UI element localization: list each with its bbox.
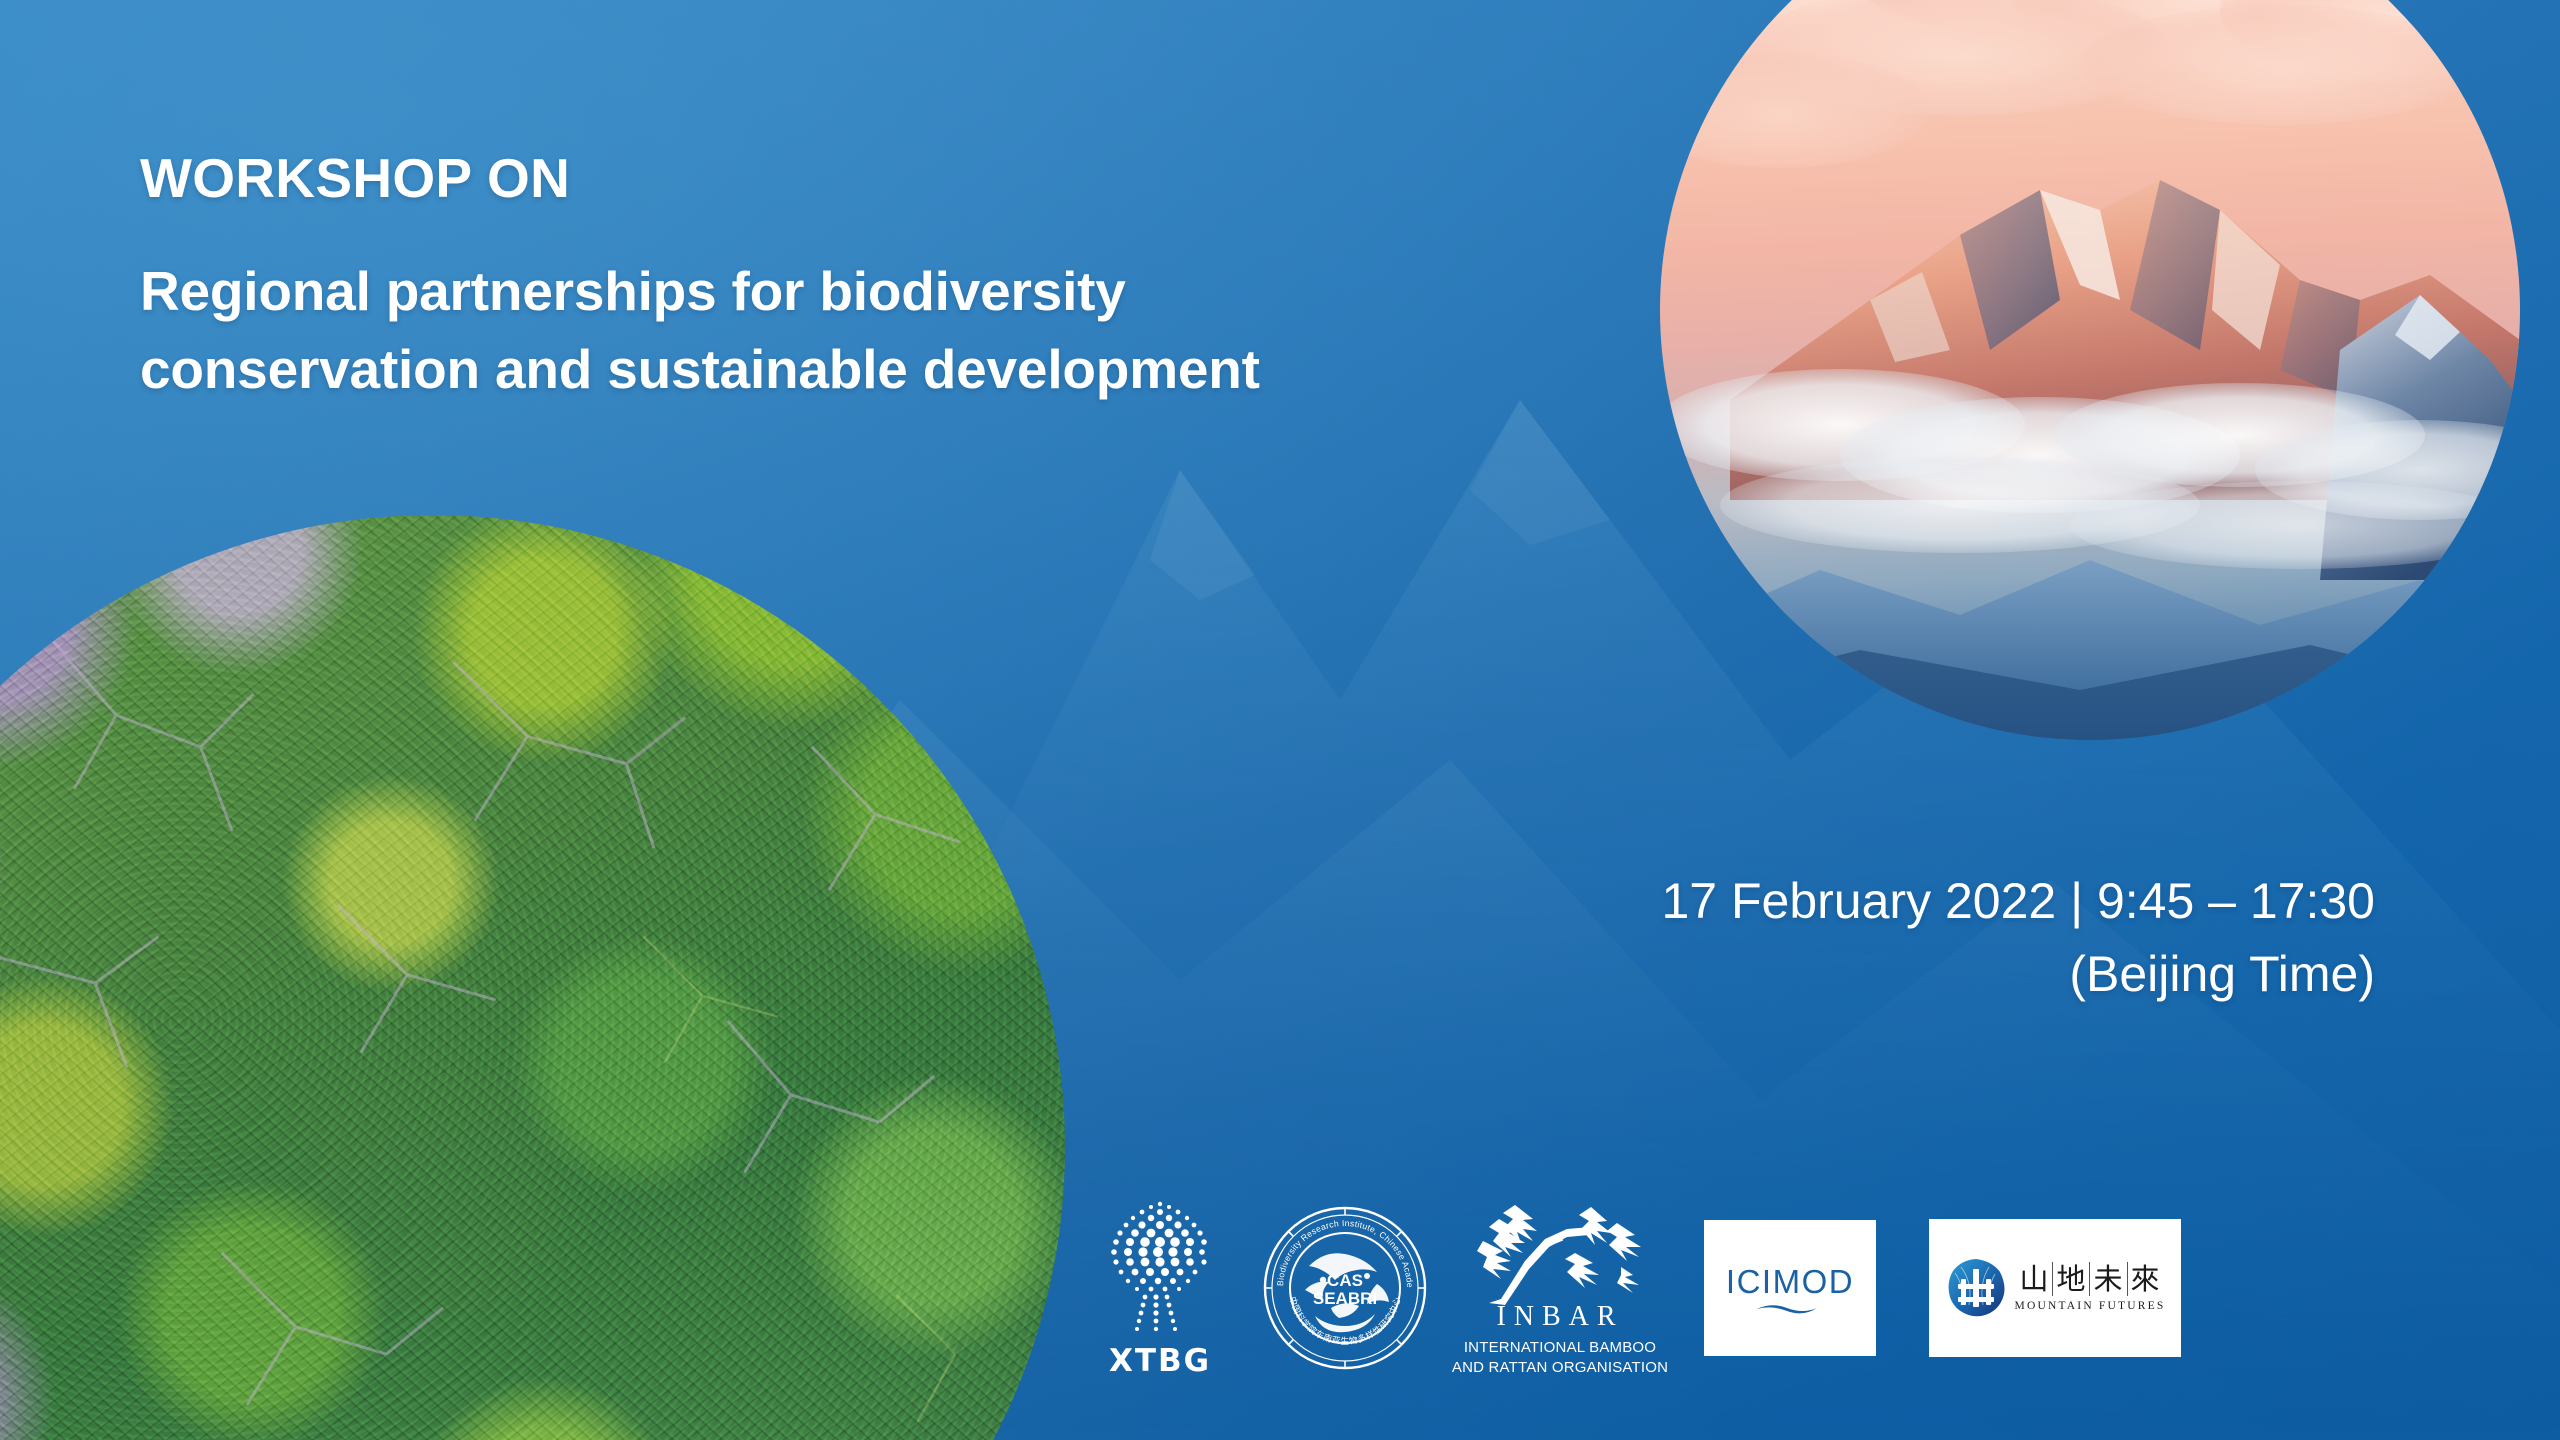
page-title-line-1: Regional partnerships for biodiversity <box>140 252 1560 330</box>
mf-char-2: 未 <box>2090 1262 2127 1296</box>
mountain-futures-wordmark-cn: 山地未來 <box>2016 1265 2163 1294</box>
seal-acronym-cas: CAS <box>1327 1271 1363 1290</box>
icimod-wordmark: ICIMOD <box>1726 1263 1854 1300</box>
event-datetime: 17 February 2022 | 9:45 – 17:30 <box>1661 865 2375 938</box>
inbar-wordmark: INBAR <box>1496 1301 1623 1333</box>
page-title-line-2: conservation and sustainable development <box>140 330 1560 408</box>
circular-seal-icon: Southeast Asia Biodiversity Research Ins… <box>1261 1204 1429 1372</box>
event-datetime-block: 17 February 2022 | 9:45 – 17:30 (Beijing… <box>1661 865 2375 1010</box>
xtbg-wordmark: XTBG <box>1109 1343 1211 1379</box>
mountain-futures-logo[interactable]: 山地未來 MOUNTAIN FUTURES <box>1905 1193 2205 1383</box>
icimod-logo[interactable]: ICIMOD <box>1675 1193 1905 1383</box>
mountain-futures-text: 山地未來 MOUNTAIN FUTURES <box>2015 1265 2166 1312</box>
inbar-subtitle-line-2: AND RATTAN ORGANISATION <box>1452 1358 1668 1377</box>
bamboo-branch-icon <box>1471 1199 1649 1307</box>
event-poster: WORKSHOP ON Regional partnerships for bi… <box>0 0 2560 1440</box>
cloud-bank-upper <box>1660 0 2520 168</box>
mf-char-3: 來 <box>2128 1262 2164 1296</box>
mountain-futures-wordmark-en: MOUNTAIN FUTURES <box>2015 1300 2166 1312</box>
inbar-subtitle-line-1: INTERNATIONAL BAMBOO <box>1452 1338 1668 1357</box>
mf-char-0: 山 <box>2016 1262 2053 1296</box>
xtbg-logo[interactable]: XTBG <box>1075 1193 1245 1383</box>
canopy-branches <box>0 515 1065 1440</box>
headline-block: WORKSHOP ON Regional partnerships for bi… <box>140 150 1560 408</box>
inbar-logo[interactable]: INBAR INTERNATIONAL BAMBOO AND RATTAN OR… <box>1445 1191 1675 1386</box>
dotted-tree-icon <box>1099 1197 1221 1337</box>
inbar-subtitle: INTERNATIONAL BAMBOO AND RATTAN ORGANISA… <box>1452 1338 1668 1376</box>
mf-char-1: 地 <box>2053 1262 2090 1296</box>
seal-acronym-seabri: SEABRI <box>1313 1289 1377 1308</box>
partner-logo-strip: XTBG Southeast Asia <box>1075 1188 2475 1388</box>
icimod-tile: ICIMOD <box>1704 1220 1876 1356</box>
mountain-photo-circle <box>1660 0 2520 740</box>
mountain-and-wave-icon: ICIMOD <box>1715 1257 1865 1319</box>
circular-seal-shan-icon <box>1945 1257 2007 1319</box>
cas-seabri-logo[interactable]: Southeast Asia Biodiversity Research Ins… <box>1245 1193 1445 1383</box>
eyebrow-label: WORKSHOP ON <box>140 150 1560 208</box>
mountain-futures-tile: 山地未來 MOUNTAIN FUTURES <box>1929 1219 2181 1357</box>
forest-photo-circle <box>0 515 1065 1440</box>
event-timezone: (Beijing Time) <box>1661 938 2375 1011</box>
